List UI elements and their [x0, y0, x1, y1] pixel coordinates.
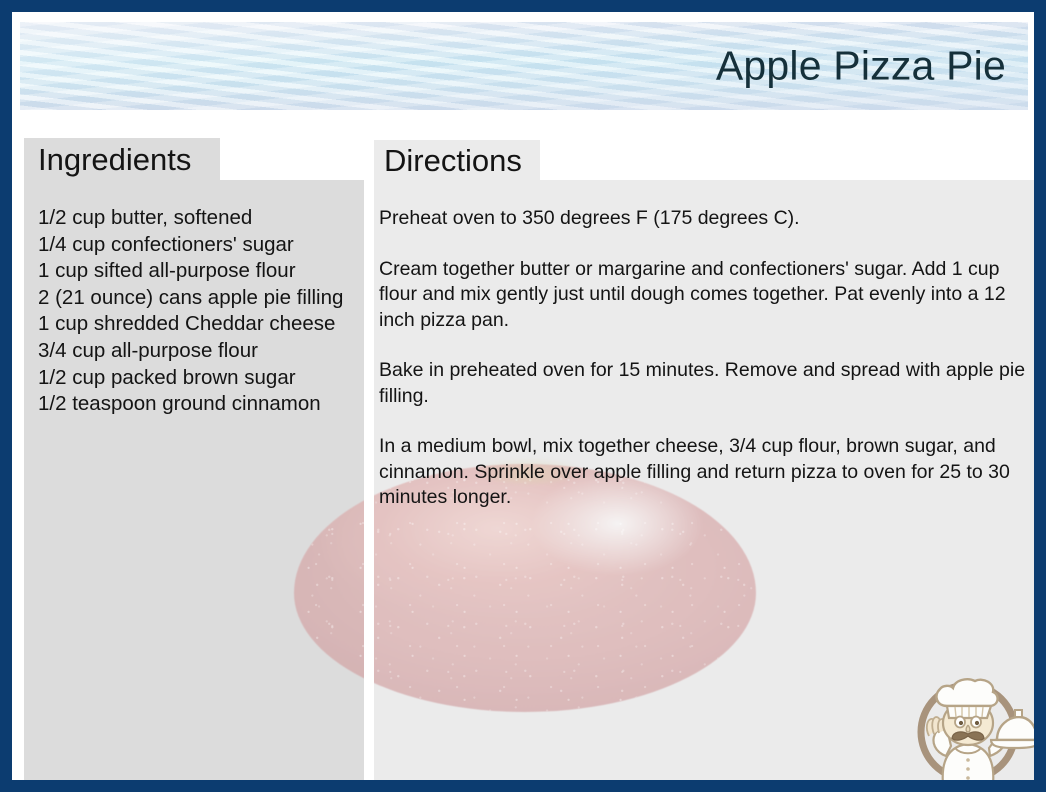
- chef-with-cloche-icon: [905, 660, 1034, 780]
- ingredients-heading-tab: Ingredients: [24, 138, 234, 180]
- directions-heading: Directions: [384, 145, 522, 176]
- list-item: 1 cup sifted all-purpose flour: [38, 258, 368, 285]
- directions-steps: Preheat oven to 350 degrees F (175 degre…: [379, 206, 1029, 511]
- chef-logo: [905, 660, 1034, 780]
- list-item: 1/2 cup packed brown sugar: [38, 365, 368, 392]
- direction-step: Cream together butter or margarine and c…: [379, 257, 1029, 334]
- directions-heading-tab: Directions: [374, 140, 550, 180]
- page-title: Apple Pizza Pie: [716, 43, 1006, 90]
- recipe-card: Apple Pizza Pie Ingredients Directions 1…: [12, 12, 1034, 780]
- ingredients-heading: Ingredients: [38, 144, 191, 175]
- list-item: 2 (21 ounce) cans apple pie filling: [38, 285, 368, 312]
- list-item: 1 cup shredded Cheddar cheese: [38, 311, 368, 338]
- list-item: 1/2 cup butter, softened: [38, 205, 368, 232]
- directions-tab-gap: [540, 140, 1034, 180]
- recipe-card-page: Apple Pizza Pie Ingredients Directions 1…: [0, 0, 1046, 792]
- list-item: 1/2 teaspoon ground cinnamon: [38, 391, 368, 418]
- direction-step: In a medium bowl, mix together cheese, 3…: [379, 434, 1029, 511]
- list-item: 1/4 cup confectioners' sugar: [38, 232, 368, 259]
- ingredients-list: 1/2 cup butter, softened 1/4 cup confect…: [38, 205, 368, 418]
- chef-hat: [936, 679, 997, 706]
- list-item: 3/4 cup all-purpose flour: [38, 338, 368, 365]
- direction-step: Preheat oven to 350 degrees F (175 degre…: [379, 206, 1029, 232]
- header-banner: Apple Pizza Pie: [20, 22, 1028, 110]
- direction-step: Bake in preheated oven for 15 minutes. R…: [379, 358, 1029, 409]
- ingredients-tab-gap: [220, 138, 366, 180]
